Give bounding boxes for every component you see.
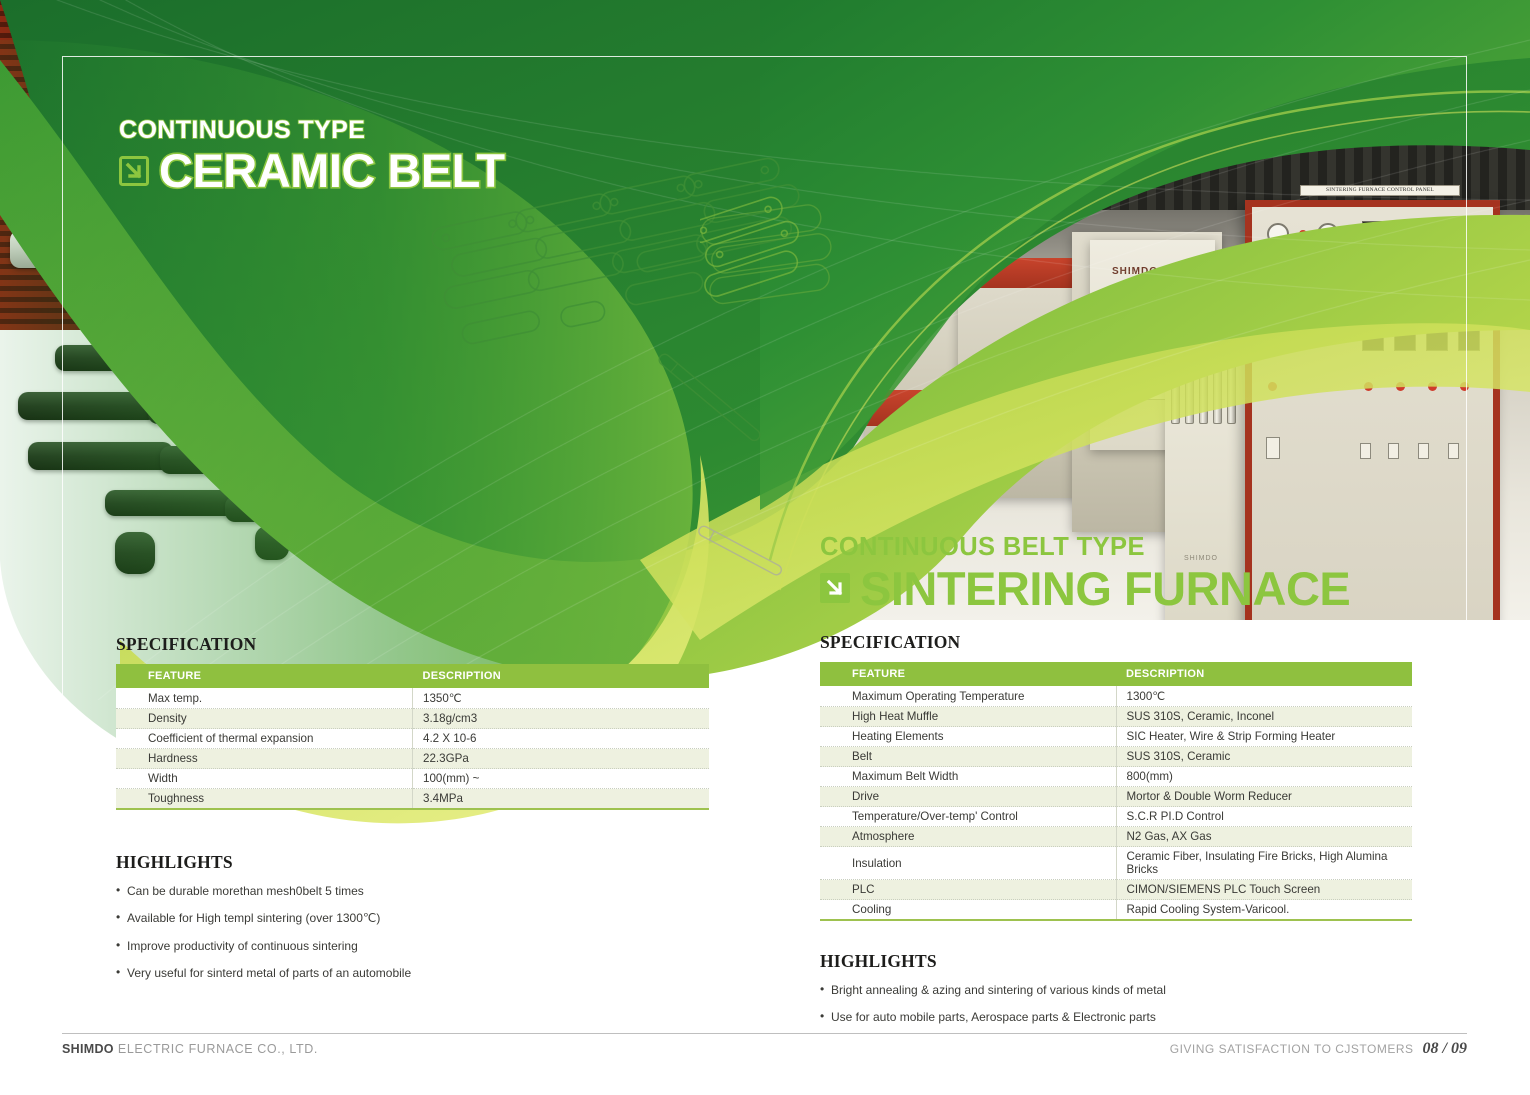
table-row: Coefficient of thermal expansion4.2 X 10… bbox=[116, 729, 709, 749]
footer-company-rest: ELECTRIC FURNACE CO., LTD. bbox=[114, 1042, 318, 1056]
list-item: Use for auto mobile parts, Aerospace par… bbox=[820, 1010, 1412, 1024]
col-header-feature: FEATURE bbox=[820, 662, 1116, 686]
right-highlights-heading: HIGHLIGHTS bbox=[820, 951, 1412, 972]
left-spec-heading: SPECIFICATION bbox=[116, 634, 709, 655]
cell-feature: PLC bbox=[820, 880, 1116, 900]
left-main-title: CERAMIC BELT bbox=[159, 147, 505, 194]
cell-feature: Temperature/Over-temp' Control bbox=[820, 807, 1116, 827]
cell-description: 3.18g/cm3 bbox=[413, 709, 710, 729]
left-kicker: CONTINUOUS TYPE bbox=[119, 118, 505, 143]
cell-feature: Drive bbox=[820, 787, 1116, 807]
cell-feature: Maximum Operating Temperature bbox=[820, 686, 1116, 707]
page-folio: 08 / 09 bbox=[1423, 1040, 1467, 1058]
col-header-feature: FEATURE bbox=[116, 664, 413, 688]
cell-description: SIC Heater, Wire & Strip Forming Heater bbox=[1116, 727, 1412, 747]
table-row: Max temp.1350℃ bbox=[116, 688, 709, 709]
table-row: Heating ElementsSIC Heater, Wire & Strip… bbox=[820, 727, 1412, 747]
pin-outline-icon bbox=[690, 520, 790, 590]
cell-feature: Heating Elements bbox=[820, 727, 1116, 747]
right-table-bottom-rule bbox=[820, 919, 1412, 921]
table-row: Toughness3.4MPa bbox=[116, 789, 709, 809]
cell-feature: Width bbox=[116, 769, 413, 789]
footer-divider bbox=[62, 1033, 1467, 1034]
col-header-description: DESCRIPTION bbox=[413, 664, 710, 688]
col-header-description: DESCRIPTION bbox=[1116, 662, 1412, 686]
list-item: Bright annealing & azing and sintering o… bbox=[820, 983, 1412, 997]
cell-description: N2 Gas, AX Gas bbox=[1116, 827, 1412, 847]
cell-feature: Insulation bbox=[820, 847, 1116, 880]
table-row: Temperature/Over-temp' ControlS.C.R PI.D… bbox=[820, 807, 1412, 827]
list-item: Improve productivity of continuous sinte… bbox=[116, 939, 709, 953]
right-spec-table: FEATURE DESCRIPTION Maximum Operating Te… bbox=[820, 662, 1412, 919]
cell-feature: Coefficient of thermal expansion bbox=[116, 729, 413, 749]
table-row: Density3.18g/cm3 bbox=[116, 709, 709, 729]
footer-tagline: GIVING SATISFACTION TO CJSTOMERS bbox=[1170, 1042, 1414, 1056]
cell-description: 1300℃ bbox=[1116, 686, 1412, 707]
left-title-block: CONTINUOUS TYPE CERAMIC BELT bbox=[119, 118, 505, 194]
right-content-column: SPECIFICATION FEATURE DESCRIPTION Maximu… bbox=[820, 632, 1412, 1038]
cell-description: Rapid Cooling System-Varicool. bbox=[1116, 900, 1412, 920]
table-row: Width100(mm) ~ bbox=[116, 769, 709, 789]
cell-description: Mortor & Double Worm Reducer bbox=[1116, 787, 1412, 807]
right-spec-heading: SPECIFICATION bbox=[820, 632, 1412, 653]
cell-description: SUS 310S, Ceramic, Inconel bbox=[1116, 707, 1412, 727]
cell-description: 3.4MPa bbox=[413, 789, 710, 809]
cell-description: Ceramic Fiber, Insulating Fire Bricks, H… bbox=[1116, 847, 1412, 880]
cell-feature: Belt bbox=[820, 747, 1116, 767]
cell-feature: Cooling bbox=[820, 900, 1116, 920]
right-title-block: CONTINUOUS BELT TYPE SINTERING FURNACE bbox=[820, 535, 1350, 612]
cell-description: 1350℃ bbox=[413, 688, 710, 709]
right-highlights-list: Bright annealing & azing and sintering o… bbox=[820, 983, 1412, 1025]
table-row: InsulationCeramic Fiber, Insulating Fire… bbox=[820, 847, 1412, 880]
arrow-down-right-badge-icon bbox=[820, 573, 850, 603]
right-main-title: SINTERING FURNACE bbox=[860, 565, 1350, 612]
table-row: BeltSUS 310S, Ceramic bbox=[820, 747, 1412, 767]
list-item: Very useful for sinterd metal of parts o… bbox=[116, 966, 709, 980]
table-header-row: FEATURE DESCRIPTION bbox=[820, 662, 1412, 686]
table-row: Maximum Belt Width800(mm) bbox=[820, 767, 1412, 787]
cell-description: 100(mm) ~ bbox=[413, 769, 710, 789]
left-spec-table: FEATURE DESCRIPTION Max temp.1350℃Densit… bbox=[116, 664, 709, 808]
brochure-page: SHIMDO SHIMDO bbox=[0, 0, 1530, 1095]
left-highlights-list: Can be durable morethan mesh0belt 5 time… bbox=[116, 884, 709, 981]
arrow-down-right-badge-icon bbox=[119, 156, 149, 186]
cell-feature: Atmosphere bbox=[820, 827, 1116, 847]
table-row: Maximum Operating Temperature1300℃ bbox=[820, 686, 1412, 707]
cell-description: 800(mm) bbox=[1116, 767, 1412, 787]
cell-feature: Max temp. bbox=[116, 688, 413, 709]
right-main-title-row: SINTERING FURNACE bbox=[820, 565, 1350, 612]
left-main-title-row: CERAMIC BELT bbox=[119, 147, 505, 194]
footer-company-bold: SHIMDO bbox=[62, 1042, 114, 1056]
table-row: DriveMortor & Double Worm Reducer bbox=[820, 787, 1412, 807]
left-content-column: SPECIFICATION FEATURE DESCRIPTION Max te… bbox=[116, 634, 709, 994]
cell-feature: Maximum Belt Width bbox=[820, 767, 1116, 787]
cell-feature: Density bbox=[116, 709, 413, 729]
roller-outline-icon bbox=[700, 190, 820, 360]
footer-company: SHIMDO ELECTRIC FURNACE CO., LTD. bbox=[62, 1042, 318, 1056]
table-header-row: FEATURE DESCRIPTION bbox=[116, 664, 709, 688]
cell-description: 4.2 X 10-6 bbox=[413, 729, 710, 749]
table-row: AtmosphereN2 Gas, AX Gas bbox=[820, 827, 1412, 847]
cell-feature: Hardness bbox=[116, 749, 413, 769]
cell-description: 22.3GPa bbox=[413, 749, 710, 769]
list-item: Available for High templ sintering (over… bbox=[116, 911, 709, 925]
cell-feature: Toughness bbox=[116, 789, 413, 809]
table-row: Hardness22.3GPa bbox=[116, 749, 709, 769]
left-highlights-heading: HIGHLIGHTS bbox=[116, 852, 709, 873]
table-row: High Heat MuffleSUS 310S, Ceramic, Incon… bbox=[820, 707, 1412, 727]
table-row: PLCCIMON/SIEMENS PLC Touch Screen bbox=[820, 880, 1412, 900]
right-kicker: CONTINUOUS BELT TYPE bbox=[820, 535, 1350, 561]
cell-description: S.C.R PI.D Control bbox=[1116, 807, 1412, 827]
left-table-bottom-rule bbox=[116, 808, 709, 810]
list-item: Can be durable morethan mesh0belt 5 time… bbox=[116, 884, 709, 898]
table-row: CoolingRapid Cooling System-Varicool. bbox=[820, 900, 1412, 920]
cell-description: SUS 310S, Ceramic bbox=[1116, 747, 1412, 767]
cell-description: CIMON/SIEMENS PLC Touch Screen bbox=[1116, 880, 1412, 900]
cell-feature: High Heat Muffle bbox=[820, 707, 1116, 727]
footer-right-group: GIVING SATISFACTION TO CJSTOMERS 08 / 09 bbox=[1170, 1040, 1467, 1058]
